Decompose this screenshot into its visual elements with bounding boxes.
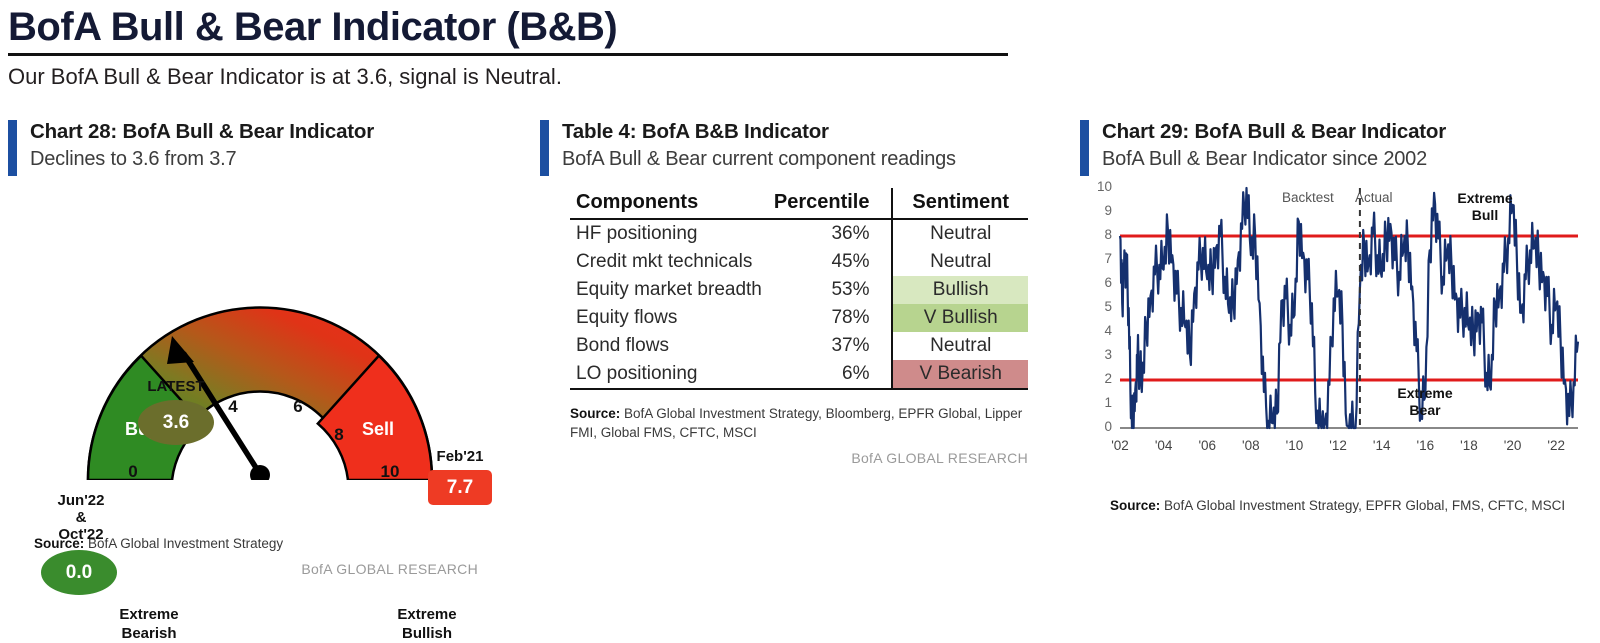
accent-bar [8,120,17,176]
bb-components-table: Components Percentile Sentiment HF posit… [570,188,1028,390]
y-tick-0: 0 [1090,419,1112,434]
table-row: HF positioning36%Neutral [570,219,1028,248]
y-tick-10: 10 [1090,179,1112,194]
table4-source: Source: BofA Global Investment Strategy,… [570,404,1030,442]
gauge-tick-4: 4 [228,397,238,416]
series-line [1120,188,1578,428]
table4-title: Table 4: BofA B&B Indicator [562,118,1060,145]
table-row: Equity market breadth53%Bullish [570,276,1028,304]
x-tick-20: '20 [1493,438,1533,453]
cell-component: HF positioning [570,219,768,248]
page-subtitle: Our BofA Bull & Bear Indicator is at 3.6… [8,62,1108,92]
cell-percentile: 37% [768,332,893,360]
table4-brand: BofA GLOBAL RESEARCH [570,450,1028,466]
cell-component: Credit mkt technicals [570,248,768,276]
page-title: BofA Bull & Bear Indicator (B&B) [8,4,1008,50]
table4-header: Table 4: BofA B&B Indicator BofA Bull & … [540,118,1060,180]
cell-sentiment: V Bullish [892,304,1028,332]
annotation-extreme-bull: Extreme Bull [1435,190,1535,224]
chart29-title: Chart 29: BofA Bull & Bear Indicator [1102,118,1592,145]
annotation-extreme-bear: Extreme Bear [1375,385,1475,419]
cell-percentile: 53% [768,276,893,304]
chart29-source-text: BofA Global Investment Strategy, EPFR Gl… [1164,498,1565,513]
chart28-subtitle: Declines to 3.6 from 3.7 [30,145,528,173]
gauge-tick-10: 10 [381,462,400,480]
x-tick-10: '10 [1274,438,1314,453]
cell-component: Equity flows [570,304,768,332]
gauge-end-bullish: Extreme Bullish [368,605,486,643]
chart29-header: Chart 29: BofA Bull & Bear Indicator Bof… [1080,118,1592,180]
annotation-extreme-bull-line2: Bull [1472,207,1498,223]
gauge-end-bearish-line1: Extreme [119,606,178,623]
annotation-extreme-bear-line1: Extreme [1397,385,1452,401]
y-tick-9: 9 [1090,203,1112,218]
chart29-source-label: Source: [1110,498,1160,513]
gauge-low-label: Jun'22 & Oct'22 [36,492,126,543]
accent-bar [540,120,549,176]
cell-sentiment: Bullish [892,276,1028,304]
cell-component: Equity market breadth [570,276,768,304]
chart29-subtitle: BofA Bull & Bear Indicator since 2002 [1102,145,1592,173]
gauge-tick-6: 6 [293,397,302,416]
gauge-sell-label: Sell [362,419,394,439]
x-tick-02: '02 [1100,438,1140,453]
chart29-source: Source: BofA Global Investment Strategy,… [1110,496,1580,515]
gauge-tick-0: 0 [128,462,137,480]
table-row: Equity flows78%V Bullish [570,304,1028,332]
gauge-latest-badge: 3.6 [138,400,214,445]
title-divider [8,53,1008,56]
col-sentiment: Sentiment [892,188,1028,219]
cell-sentiment: V Bearish [892,360,1028,389]
y-tick-8: 8 [1090,227,1112,242]
table4-source-label: Source: [570,406,620,421]
x-tick-06: '06 [1187,438,1227,453]
gauge-low-badge: 0.0 [41,550,117,595]
x-tick-08: '08 [1231,438,1271,453]
annotation-extreme-bull-line1: Extreme [1457,190,1512,206]
table-row: Credit mkt technicals45%Neutral [570,248,1028,276]
cell-sentiment: Neutral [892,332,1028,360]
annotation-actual: Actual [1355,190,1393,205]
x-tick-22: '22 [1536,438,1576,453]
accent-bar [1080,120,1089,176]
y-tick-3: 3 [1090,347,1112,362]
cell-percentile: 78% [768,304,893,332]
cell-sentiment: Neutral [892,219,1028,248]
col-percentile: Percentile [768,188,893,219]
y-tick-6: 6 [1090,275,1112,290]
x-tick-18: '18 [1449,438,1489,453]
cell-percentile: 6% [768,360,893,389]
gauge-tick-8: 8 [334,425,343,444]
cell-component: LO positioning [570,360,768,389]
line-chart: 012345678910 '02'04'06'08'10'12'14'16'18… [1080,180,1580,470]
x-tick-16: '16 [1405,438,1445,453]
table-row: LO positioning6%V Bearish [570,360,1028,389]
table-body: HF positioning36%NeutralCredit mkt techn… [570,219,1028,389]
gauge-low-label-line1: Jun'22 [58,492,105,509]
x-tick-14: '14 [1362,438,1402,453]
x-tick-04: '04 [1144,438,1184,453]
gauge-chart: Buy Sell 2 4 6 8 0 10 LATEST 3.6 Jun'22 … [8,180,528,480]
table-header-row: Components Percentile Sentiment [570,188,1028,219]
panel-chart28: Chart 28: BofA Bull & Bear Indicator Dec… [8,118,528,577]
y-tick-7: 7 [1090,251,1112,266]
cell-percentile: 45% [768,248,893,276]
gauge-svg: Buy Sell 2 4 6 8 0 10 [8,180,528,480]
chart28-title: Chart 28: BofA Bull & Bear Indicator [30,118,528,145]
gauge-end-bearish: Extreme Bearish [90,605,208,643]
gauge-end-bullish-line2: Bullish [402,625,452,642]
annotation-extreme-bear-line2: Bear [1409,402,1440,418]
table4-subtitle: BofA Bull & Bear current component readi… [562,145,1060,173]
x-tick-12: '12 [1318,438,1358,453]
gauge-end-bearish-line2: Bearish [121,625,176,642]
gauge-high-label: Feb'21 [424,448,496,465]
cell-component: Bond flows [570,332,768,360]
gauge-end-bullish-line1: Extreme [397,606,456,623]
col-components: Components [570,188,768,219]
gauge-low-label-line2: & [76,509,87,526]
panel-table4: Table 4: BofA B&B Indicator BofA Bull & … [540,118,1060,466]
gauge-low-label-line3: Oct'22 [58,526,103,543]
table-row: Bond flows37%Neutral [570,332,1028,360]
y-tick-4: 4 [1090,323,1112,338]
annotation-backtest: Backtest [1282,190,1334,205]
chart28-header: Chart 28: BofA Bull & Bear Indicator Dec… [8,118,528,180]
cell-percentile: 36% [768,219,893,248]
table4-source-text: BofA Global Investment Strategy, Bloombe… [570,406,1022,440]
gauge-latest-label: LATEST [130,378,222,395]
y-tick-2: 2 [1090,371,1112,386]
panel-chart29: Chart 29: BofA Bull & Bear Indicator Bof… [1080,118,1592,515]
gauge-high-badge: 7.7 [428,470,492,505]
y-tick-5: 5 [1090,299,1112,314]
y-tick-1: 1 [1090,395,1112,410]
cell-sentiment: Neutral [892,248,1028,276]
